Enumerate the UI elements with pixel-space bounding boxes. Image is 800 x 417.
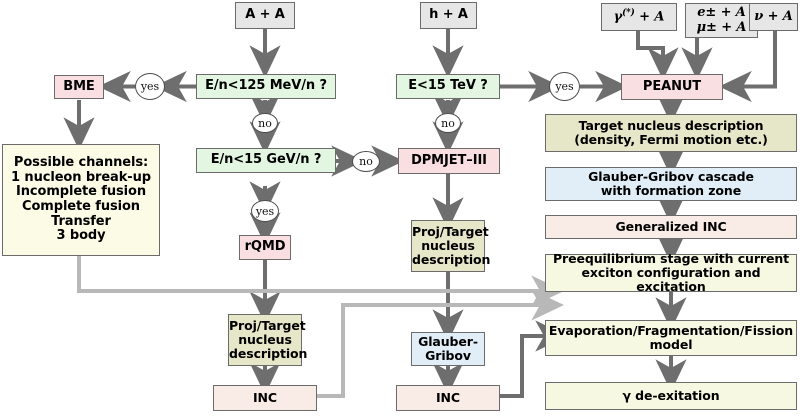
input-gamma-a-label: γ(*) + A bbox=[602, 9, 676, 25]
bme-label: BME bbox=[55, 80, 103, 95]
decision-box-energy-15gev: E/n<15 GeV/n ? bbox=[196, 148, 336, 173]
generalized-inc-box: Generalized INC bbox=[545, 215, 797, 239]
input-ha-label: h + A bbox=[421, 8, 476, 23]
badge-yes-3: yes bbox=[549, 72, 580, 101]
glauber-cascade-line1: Glauber-Gribov cascade bbox=[549, 170, 793, 184]
input-aa-label: A + A bbox=[236, 8, 294, 23]
model-box-bme: BME bbox=[54, 75, 104, 99]
gamma-deexcitation-label: γ de-exitation bbox=[546, 389, 796, 403]
peanut-label: PEANUT bbox=[622, 80, 722, 95]
nucleus-desc-line3: description bbox=[412, 253, 484, 267]
nucleus-desc-line2: nucleus bbox=[412, 239, 484, 253]
rqmd-label: rQMD bbox=[240, 240, 290, 255]
nucleus-desc-line1: Proj/Target bbox=[229, 319, 301, 333]
input-lepton-a-line2: μ± + A bbox=[689, 21, 754, 36]
evaporation-model-box: Evaporation/Fragmentation/Fission model bbox=[545, 320, 797, 356]
input-box-nu-a: ν + A bbox=[749, 3, 798, 31]
input-lepton-a-line1: e± + A bbox=[689, 6, 754, 21]
inc-label: INC bbox=[397, 391, 499, 405]
inc-label: INC bbox=[214, 391, 316, 405]
channels-item-4: 3 body bbox=[6, 229, 156, 244]
model-box-peanut: PEANUT bbox=[621, 74, 723, 100]
input-box-lepton-a: e± + A μ± + A bbox=[685, 3, 758, 38]
preequilibrium-line2: exciton configuration and excitation bbox=[549, 266, 793, 294]
dpmjet-label: DPMJET–III bbox=[399, 154, 499, 169]
badge-no-1: no bbox=[252, 113, 278, 133]
evaporation-line1: Evaporation/Fragmentation/Fission bbox=[549, 324, 793, 338]
model-box-rqmd: rQMD bbox=[239, 235, 291, 260]
nucleus-description-box-rqmd: Proj/Target nucleus description bbox=[228, 314, 302, 366]
channels-item-0: 1 nucleon break-up bbox=[6, 171, 156, 186]
decision-box-energy-15tev: E<15 TeV ? bbox=[396, 74, 500, 99]
nucleus-description-box-dpmjet: Proj/Target nucleus description bbox=[411, 220, 485, 272]
glauber-short-line2: Gribov bbox=[415, 349, 481, 363]
glauber-gribov-cascade-box: Glauber-Gribov cascade with formation zo… bbox=[545, 167, 797, 201]
evaporation-line2: model bbox=[549, 338, 793, 352]
target-nucleus-line2: (density, Fermi motion etc.) bbox=[549, 133, 793, 147]
badge-no-2: no bbox=[352, 151, 380, 172]
nucleus-desc-line3: description bbox=[229, 347, 301, 361]
model-box-dpmjet: DPMJET–III bbox=[398, 148, 500, 174]
inc-box-left: INC bbox=[213, 385, 317, 411]
glauber-gribov-box: Glauber- Gribov bbox=[411, 332, 485, 366]
nucleus-desc-line2: nucleus bbox=[229, 333, 301, 347]
input-box-gamma-a: γ(*) + A bbox=[601, 3, 677, 31]
gamma-deexcitation-box: γ de-exitation bbox=[545, 382, 797, 410]
input-nu-a-label: ν + A bbox=[750, 10, 797, 25]
target-nucleus-line1: Target nucleus description bbox=[549, 119, 793, 133]
channels-heading: Possible channels: bbox=[6, 156, 156, 171]
decision-box-energy-125mev: E/n<125 MeV/n ? bbox=[196, 74, 336, 99]
generalized-inc-label: Generalized INC bbox=[546, 220, 796, 234]
input-box-aa: A + A bbox=[235, 2, 295, 29]
badge-no-3: no bbox=[435, 113, 461, 133]
glauber-short-line1: Glauber- bbox=[415, 335, 481, 349]
target-nucleus-description-box: Target nucleus description (density, Fer… bbox=[545, 114, 797, 152]
decision-1-label: E/n<125 MeV/n ? bbox=[197, 79, 335, 94]
channels-item-3: Transfer bbox=[6, 215, 156, 230]
inc-box-middle: INC bbox=[396, 385, 500, 411]
input-box-ha: h + A bbox=[420, 2, 477, 29]
possible-channels-box: Possible channels: 1 nucleon break-up In… bbox=[2, 144, 160, 256]
nucleus-desc-line1: Proj/Target bbox=[412, 225, 484, 239]
glauber-cascade-line2: with formation zone bbox=[549, 184, 793, 198]
channels-item-2: Complete fusion bbox=[6, 200, 156, 215]
preequilibrium-stage-box: Preequilibrium stage with current excito… bbox=[545, 254, 797, 292]
decision-3-label: E<15 TeV ? bbox=[397, 79, 499, 94]
flowchart-canvas: A + A h + A γ(*) + A e± + A μ± + A ν + A… bbox=[0, 0, 800, 417]
channels-item-1: Incomplete fusion bbox=[6, 185, 156, 200]
preequilibrium-line1: Preequilibrium stage with current bbox=[549, 252, 793, 266]
decision-2-label: E/n<15 GeV/n ? bbox=[197, 153, 335, 168]
badge-yes-2: yes bbox=[251, 200, 279, 222]
badge-yes-1: yes bbox=[135, 73, 165, 100]
